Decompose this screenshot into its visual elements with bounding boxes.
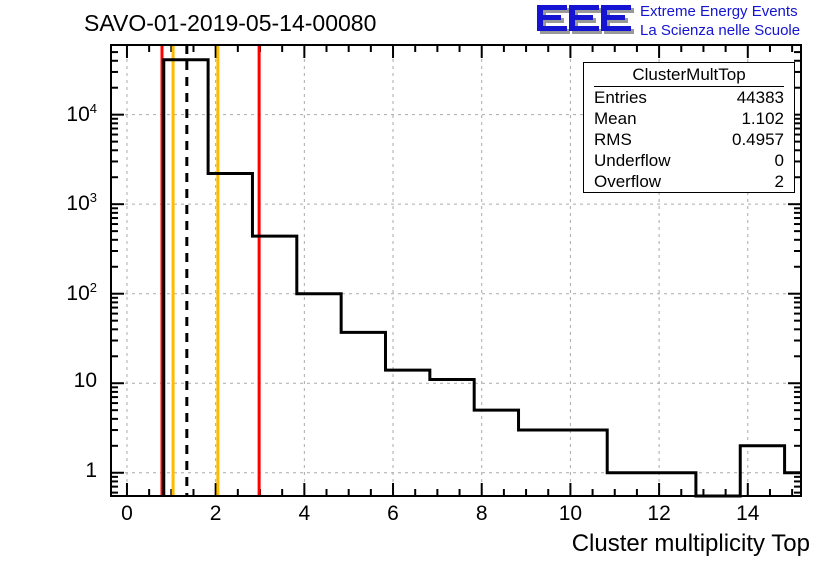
stats-row: Mean1.102 (584, 108, 794, 129)
stats-row-label: Underflow (594, 150, 671, 171)
stats-row-value: 0.4957 (732, 129, 784, 150)
x-axis-tick-label: 0 (97, 502, 157, 526)
stats-row: Underflow0 (584, 150, 794, 171)
x-axis-tick-label: 4 (274, 502, 334, 526)
stats-row: Entries44383 (584, 87, 794, 108)
stats-row-value: 44383 (737, 87, 784, 108)
stats-rows: Entries44383Mean1.102RMS0.4957Underflow0… (584, 87, 794, 192)
stats-row: RMS0.4957 (584, 129, 794, 150)
stats-row: Overflow2 (584, 171, 794, 192)
stats-row-label: RMS (594, 129, 632, 150)
x-axis-tick-label: 14 (718, 502, 778, 526)
x-axis-title: Cluster multiplicity Top (572, 530, 810, 558)
stats-row-label: Overflow (594, 171, 661, 192)
stats-box: ClusterMultTop Entries44383Mean1.102RMS0… (583, 62, 795, 193)
x-axis-tick-label: 10 (540, 502, 600, 526)
x-axis-tick-label: 2 (186, 502, 246, 526)
x-axis-tick-label: 8 (452, 502, 512, 526)
root-canvas: SAVO-01-2019-05-14-00080 (0, 0, 836, 572)
x-axis-tick-label: 12 (629, 502, 689, 526)
stats-row-label: Entries (594, 87, 647, 108)
stats-row-value: 1.102 (741, 108, 784, 129)
x-axis-tick-label: 6 (363, 502, 423, 526)
stats-row-label: Mean (594, 108, 637, 129)
stats-row-value: 0 (775, 150, 784, 171)
stats-title: ClusterMultTop (594, 63, 784, 87)
stats-row-value: 2 (775, 171, 784, 192)
